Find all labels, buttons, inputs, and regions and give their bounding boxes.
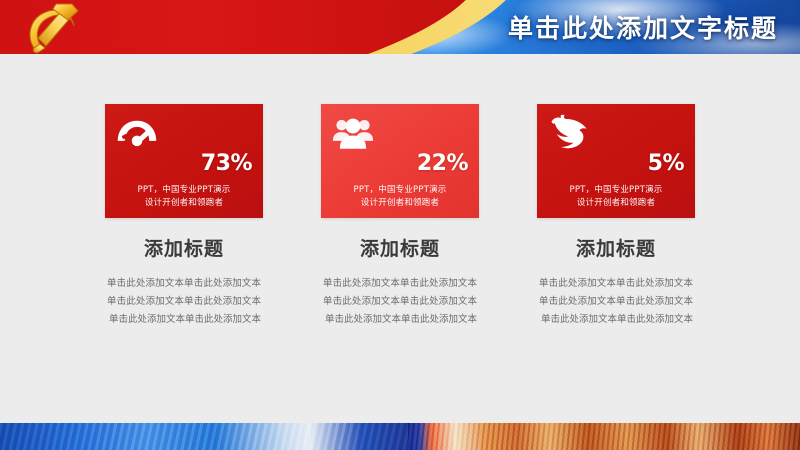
header-bottom-edge: [0, 54, 800, 58]
stat-caption-line1: PPT，中国专业PPT演示: [105, 184, 263, 197]
page-title: 单击此处添加文字标题: [508, 9, 778, 45]
stat-card[interactable]: 5% PPT，中国专业PPT演示 设计开创者和领跑者: [537, 104, 695, 218]
stat-card[interactable]: 22% PPT，中国专业PPT演示 设计开创者和领跑者: [321, 104, 479, 218]
stat-caption-line1: PPT，中国专业PPT演示: [537, 184, 695, 197]
column-title: 添加标题: [105, 234, 263, 261]
column-title: 添加标题: [537, 234, 695, 261]
slide-header: 单击此处添加文字标题: [0, 0, 800, 58]
stat-card[interactable]: 73% PPT，中国专业PPT演示 设计开创者和领跑者: [105, 104, 263, 218]
stat-caption-line2: 设计开创者和领跑者: [537, 197, 695, 210]
stat-caption: PPT，中国专业PPT演示 设计开创者和领跑者: [105, 184, 263, 210]
stat-caption-line1: PPT，中国专业PPT演示: [321, 184, 479, 197]
stat-percent: 22%: [417, 153, 468, 175]
stat-caption-line2: 设计开创者和领跑者: [105, 197, 263, 210]
content-column: 5% PPT，中国专业PPT演示 设计开创者和领跑者 添加标题 单击此处添加文本…: [537, 104, 695, 329]
slide: 单击此处添加文字标题 73% PPT，中国专业PPT演示 设计开创者和: [0, 0, 800, 450]
content-column: 73% PPT，中国专业PPT演示 设计开创者和领跑者 添加标题 单击此处添加文…: [105, 104, 263, 329]
stat-caption: PPT，中国专业PPT演示 设计开创者和领跑者: [537, 184, 695, 210]
content-column: 22% PPT，中国专业PPT演示 设计开创者和领跑者 添加标题 单击此处添加文…: [321, 104, 479, 329]
slide-footer: [0, 423, 800, 450]
column-title: 添加标题: [321, 234, 479, 261]
blue-fabric-photo-strip: [0, 423, 430, 450]
column-body-text: 单击此处添加文本单击此处添加文本单击此处添加文本单击此处添加文本单击此处添加文本…: [105, 275, 263, 329]
orange-fabric-photo-strip: [408, 423, 800, 450]
stat-percent: 73%: [201, 153, 252, 175]
stat-caption-line2: 设计开创者和领跑者: [321, 197, 479, 210]
column-body-text: 单击此处添加文本单击此处添加文本单击此处添加文本单击此处添加文本单击此处添加文本…: [321, 275, 479, 329]
stat-percent: 5%: [648, 153, 684, 175]
cpc-hammer-sickle-emblem: [20, 2, 86, 58]
gauge-icon: [116, 113, 158, 153]
column-body-text: 单击此处添加文本单击此处添加文本单击此处添加文本单击此处添加文本单击此处添加文本…: [537, 275, 695, 329]
content-columns: 73% PPT，中国专业PPT演示 设计开创者和领跑者 添加标题 单击此处添加文…: [0, 104, 800, 329]
bird-icon: [548, 113, 590, 153]
stat-caption: PPT，中国专业PPT演示 设计开创者和领跑者: [321, 184, 479, 210]
people-group-icon: [332, 113, 374, 153]
